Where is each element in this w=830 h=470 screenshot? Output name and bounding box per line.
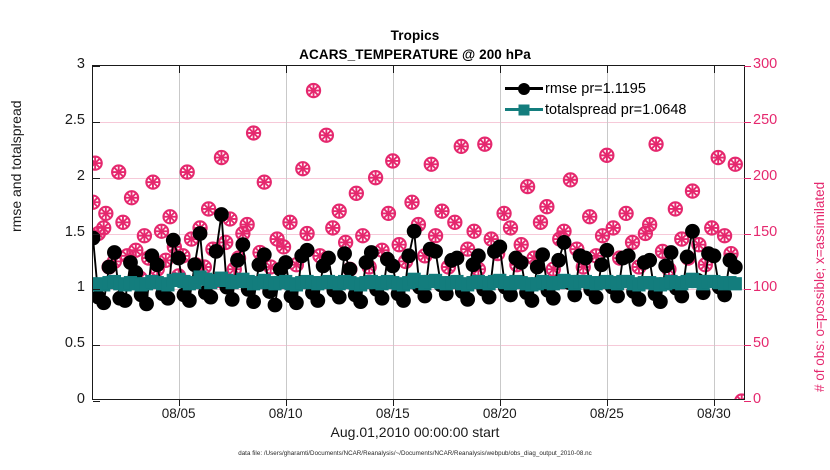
x-axis-tick-label: 08/10 <box>251 406 321 421</box>
y-axis-right-tick-label: 250 <box>753 112 813 128</box>
y-axis-left-tick-label: 1.5 <box>25 224 85 240</box>
y-axis-right-tick <box>744 345 751 346</box>
title-region: Tropics <box>0 26 830 45</box>
y-axis-left-label: rmse and totalspread <box>8 100 24 232</box>
y-axis-right-tick-label: 0 <box>753 391 813 407</box>
x-axis-tick-label: 08/15 <box>358 406 428 421</box>
circle-marker-icon <box>517 82 531 96</box>
x-axis-tick-label: 08/25 <box>572 406 642 421</box>
y-axis-left-tick-label: 2 <box>25 168 85 184</box>
x-axis-tick-label: 08/20 <box>465 406 535 421</box>
y-axis-left-tick-label: 3 <box>25 56 85 72</box>
y-axis-right-label: # of obs: o=possible; x=assimilated <box>812 182 827 392</box>
y-axis-left-tick <box>93 66 100 67</box>
y-axis-right-tick-label: 200 <box>753 168 813 184</box>
y-axis-left-tick <box>93 234 100 235</box>
x-axis-tick <box>714 66 715 73</box>
y-axis-right-tick <box>744 122 751 123</box>
x-axis-tick <box>286 66 287 73</box>
y-axis-left-tick <box>93 289 100 290</box>
y-axis-left-tick <box>93 122 100 123</box>
y-axis-right-tick <box>744 289 751 290</box>
y-axis-right-tick <box>744 234 751 235</box>
y-axis-right-tick-label: 300 <box>753 56 813 72</box>
x-axis-tick <box>179 399 180 406</box>
y-axis-left-tick-label: 0.5 <box>25 335 85 351</box>
x-axis-tick <box>607 66 608 73</box>
x-axis-tick <box>607 399 608 406</box>
title-variable: ACARS_TEMPERATURE @ 200 hPa <box>0 45 830 64</box>
y-axis-right-tick-label: 100 <box>753 279 813 295</box>
y-axis-right-tick-label: 50 <box>753 335 813 351</box>
x-axis-tick <box>393 66 394 73</box>
x-axis-tick <box>714 399 715 406</box>
y-axis-right-tick <box>744 401 751 402</box>
y-axis-left-tick-label: 1 <box>25 279 85 295</box>
x-axis-tick-label: 08/30 <box>679 406 749 421</box>
y-axis-left-tick <box>93 401 100 402</box>
x-axis-tick <box>393 399 394 406</box>
x-axis-tick-label: 08/05 <box>144 406 214 421</box>
chart-legend: rmse pr=1.1195 totalspread pr=1.0648 <box>505 78 743 120</box>
x-axis-tick <box>286 399 287 406</box>
x-axis-tick <box>500 66 501 73</box>
legend-entry-rmse[interactable]: rmse pr=1.1195 <box>505 78 743 99</box>
y-axis-left-tick-label: 2.5 <box>25 112 85 128</box>
y-axis-left-tick-label: 0 <box>25 391 85 407</box>
data-file-footer: data file: /Users/gharamti/Documents/NCA… <box>0 450 830 457</box>
legend-label-totalspread: totalspread pr=1.0648 <box>545 102 686 118</box>
square-marker-icon <box>517 103 531 117</box>
totalspread-marker <box>729 277 742 290</box>
y-axis-right-tick <box>744 178 751 179</box>
y-axis-right-tick <box>744 66 751 67</box>
y-axis-right-tick-label: 150 <box>753 224 813 240</box>
y-axis-left-tick <box>93 345 100 346</box>
legend-entry-totalspread[interactable]: totalspread pr=1.0648 <box>505 99 743 120</box>
x-axis-label: Aug.01,2010 00:00:00 start <box>0 424 830 440</box>
x-axis-tick <box>179 66 180 73</box>
legend-label-rmse: rmse pr=1.1195 <box>545 81 646 97</box>
y-axis-left-tick <box>93 178 100 179</box>
chart-title-block: Tropics ACARS_TEMPERATURE @ 200 hPa <box>0 26 830 64</box>
x-axis-tick <box>500 399 501 406</box>
